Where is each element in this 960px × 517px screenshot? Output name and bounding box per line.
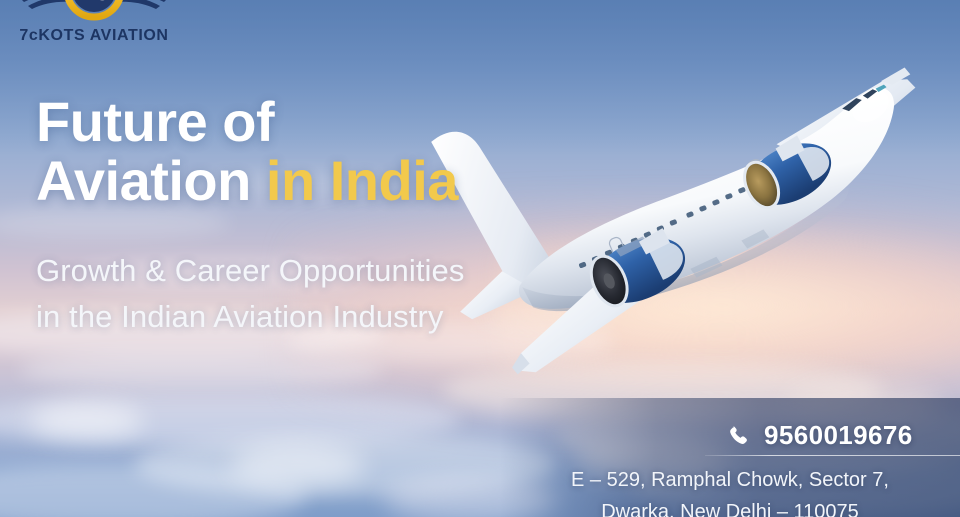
subtitle-line-1: Growth & Career Opportunities <box>36 248 676 294</box>
phone-icon <box>728 425 750 447</box>
headline-line-2: Aviation in India <box>36 151 656 210</box>
address-block: E – 529, Ramphal Chowk, Sector 7, Dwarka… <box>500 464 960 517</box>
address-line-1: E – 529, Ramphal Chowk, Sector 7, <box>500 464 960 496</box>
brand-logo[interactable]: 70 7cKOTS AVIATION <box>14 0 174 54</box>
headline-line-2-white: Aviation <box>36 149 266 212</box>
logo-badge-number: 70 <box>77 0 110 7</box>
subtitle-line-2: in the Indian Aviation Industry <box>36 294 676 340</box>
logo-wordmark: 7cKOTS AVIATION <box>19 27 168 44</box>
phone-number[interactable]: 9560019676 <box>764 420 913 451</box>
aviation-banner: 70 7cKOTS AVIATION Future of Aviation in… <box>0 0 960 517</box>
page-title: Future of Aviation in India <box>36 92 656 211</box>
subtitle: Growth & Career Opportunities in the Ind… <box>36 248 676 340</box>
headline-line-1: Future of <box>36 92 656 151</box>
panel-divider <box>705 455 960 456</box>
contact-panel: 9560019676 E – 529, Ramphal Chowk, Secto… <box>500 398 960 517</box>
headline-line-2-accent: in India <box>266 149 458 212</box>
phone-row[interactable]: 9560019676 <box>728 420 913 451</box>
address-line-2: Dwarka, New Delhi – 110075 <box>500 496 960 517</box>
